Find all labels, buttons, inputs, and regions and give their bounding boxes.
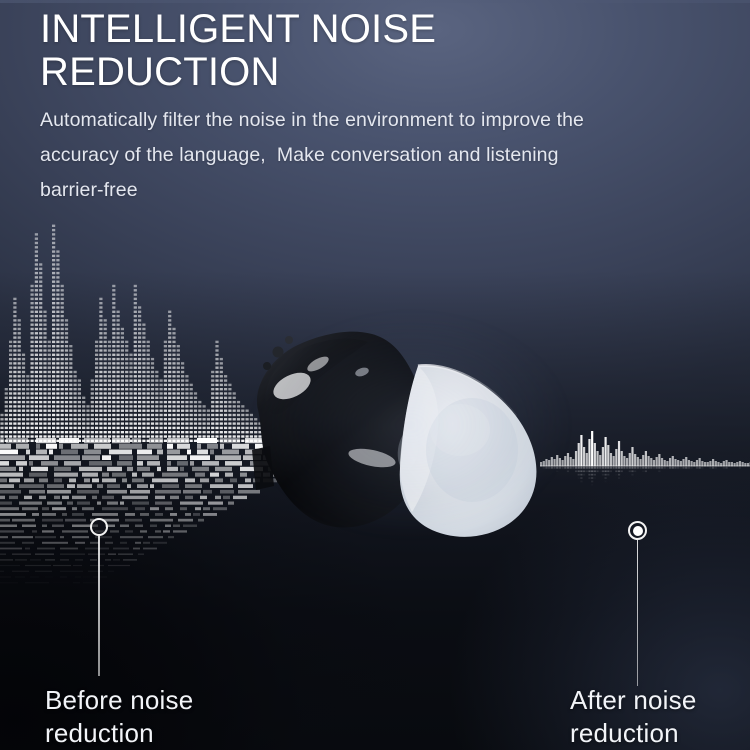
subcopy-line-2: accuracy of the language, Make conversat… <box>40 138 712 173</box>
before-callout-line <box>98 536 100 676</box>
after-callout-line <box>637 540 639 686</box>
after-noise-caption: After noise reduction <box>570 684 697 750</box>
before-noise-caption: Before noise reduction <box>45 684 193 750</box>
before-marker-icon <box>90 518 108 536</box>
page-title: INTELLIGENT NOISE REDUCTION <box>40 8 700 94</box>
subcopy-line-3: barrier-free <box>40 173 712 208</box>
product-glow <box>182 270 622 580</box>
product-feature-image: Before noise reduction After noise reduc… <box>0 0 750 750</box>
subcopy-line-1: Automatically filter the noise in the en… <box>40 103 712 138</box>
after-marker-dot-icon <box>633 526 643 536</box>
top-edge-highlight <box>0 0 750 3</box>
page-subcopy: Automatically filter the noise in the en… <box>40 103 712 208</box>
earbud-product-photo <box>222 300 582 550</box>
